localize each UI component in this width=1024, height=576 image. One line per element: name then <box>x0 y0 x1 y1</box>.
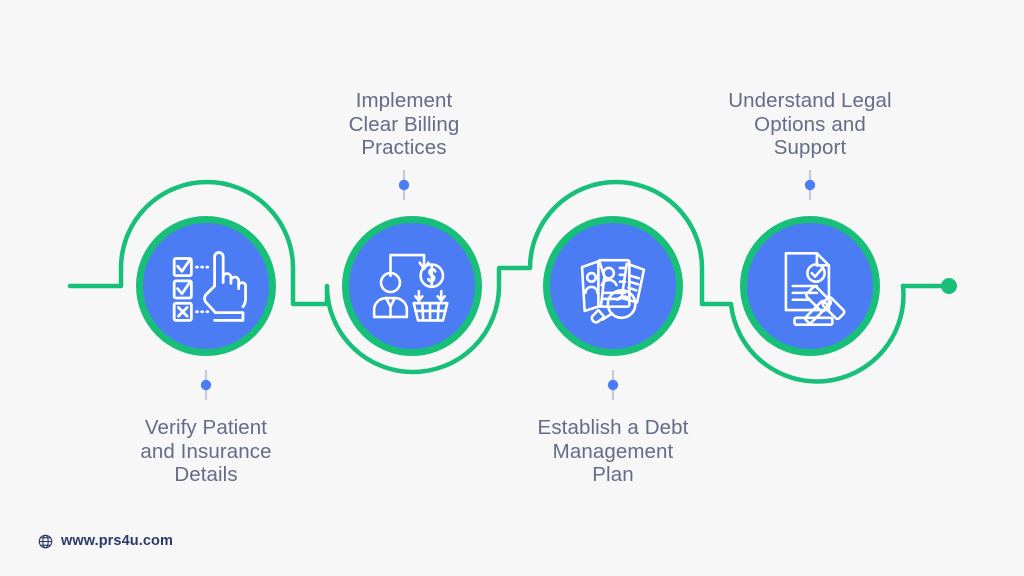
documents-magnifier-icon <box>570 243 656 329</box>
step-label-establish-a-debt-management-plan: Establish a Debt Management Plan <box>498 416 728 487</box>
step-label-implement-clear-billing-practices: Implement Clear Billing Practices <box>289 89 519 160</box>
document-gavel-icon <box>767 243 853 329</box>
connector-dot-step-3 <box>608 380 618 390</box>
person-money-basket-icon <box>369 243 455 329</box>
footer: www.prs4u.com <box>38 533 173 549</box>
footer-url-text: www.prs4u.com <box>61 533 173 549</box>
step-node-implement-clear-billing-practices[interactable] <box>342 216 482 356</box>
flow-end-dot <box>941 278 957 294</box>
step-node-understand-legal-options-and-support[interactable] <box>740 216 880 356</box>
connector-dot-step-1 <box>201 380 211 390</box>
connector-dot-step-2 <box>399 180 409 190</box>
checklist-hand-icon <box>163 243 249 329</box>
connector-dot-step-4 <box>805 180 815 190</box>
step-label-understand-legal-options-and-support: Understand Legal Options and Support <box>695 89 925 160</box>
step-node-verify-patient-and-insurance-details[interactable] <box>136 216 276 356</box>
step-label-verify-patient-and-insurance-details: Verify Patient and Insurance Details <box>91 416 321 487</box>
globe-icon <box>38 534 53 549</box>
infographic-canvas: Verify Patient and Insurance Details Imp… <box>0 0 1024 576</box>
step-node-establish-a-debt-management-plan[interactable] <box>543 216 683 356</box>
